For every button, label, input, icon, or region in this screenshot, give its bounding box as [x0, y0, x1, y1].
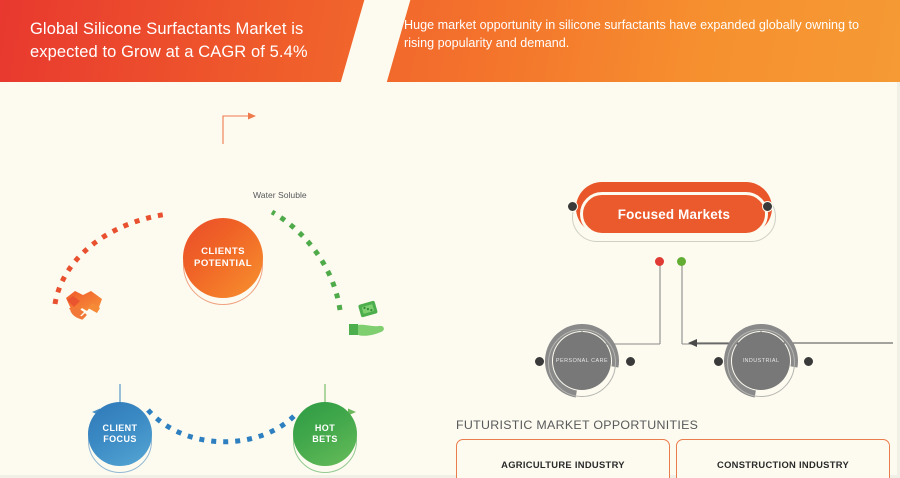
gauge-personal-care[interactable]: PERSONAL CARE: [545, 324, 619, 398]
node-label-line1: CLIENT: [103, 423, 138, 435]
node-label-line2: POTENTIAL: [194, 258, 252, 270]
node-label-line2: BETS: [312, 434, 338, 446]
header-banner: Global Silicone Surfactants Market is ex…: [0, 0, 900, 82]
money-in-hand-icon: [345, 300, 391, 344]
focused-markets-dot-left: [567, 201, 578, 212]
handshake-icon: [58, 282, 110, 328]
node-face: HOT BETS: [293, 402, 357, 466]
node-label-line1: CLIENTS: [201, 246, 245, 258]
label-water-soluble: Water Soluble: [253, 190, 307, 201]
node-hot-bets[interactable]: HOT BETS: [293, 402, 357, 466]
node-label-line1: HOT: [315, 423, 335, 435]
opportunity-label: AGRICULTURE INDUSTRY: [501, 459, 625, 470]
gauge-industrial-dot-right: [803, 356, 814, 367]
node-clients-potential[interactable]: CLIENTS POTENTIAL: [183, 218, 263, 298]
focused-markets-dot-right: [762, 201, 773, 212]
focused-markets-banner[interactable]: Focused Markets: [568, 180, 780, 254]
header-subtitle: Huge market opportunity in silicone surf…: [404, 16, 874, 52]
green-status-dot: [677, 257, 686, 266]
opportunity-grid: AGRICULTURE INDUSTRY CONSTRUCTION INDUST…: [456, 439, 890, 478]
node-client-focus[interactable]: CLIENT FOCUS: [88, 402, 152, 466]
node-label-line2: FOCUS: [103, 434, 137, 446]
red-status-dot: [655, 257, 664, 266]
opportunity-box-construction[interactable]: CONSTRUCTION INDUSTRY: [676, 439, 890, 478]
gauge-industrial-dot-left: [713, 356, 724, 367]
gauge-label: INDUSTRIAL: [732, 332, 790, 390]
gauge-personal-care-dot-left: [534, 356, 545, 367]
diagram-canvas: CLIENTS POTENTIAL CLIENT FOCUS HOT BETS …: [0, 82, 900, 478]
focused-markets-label: Focused Markets: [580, 192, 768, 236]
infographic-root: Global Silicone Surfactants Market is ex…: [0, 0, 900, 478]
gauge-industrial[interactable]: INDUSTRIAL: [724, 324, 798, 398]
futuristic-section-title: FUTURISTIC MARKET OPPORTUNITIES: [456, 418, 698, 432]
opportunity-box-agriculture[interactable]: AGRICULTURE INDUSTRY: [456, 439, 670, 478]
opportunity-label: CONSTRUCTION INDUSTRY: [717, 459, 849, 470]
gauge-personal-care-dot-right: [625, 356, 636, 367]
node-face: CLIENTS POTENTIAL: [183, 218, 263, 298]
node-face: CLIENT FOCUS: [88, 402, 152, 466]
gauge-label: PERSONAL CARE: [553, 332, 611, 390]
header-title: Global Silicone Surfactants Market is ex…: [30, 18, 360, 64]
